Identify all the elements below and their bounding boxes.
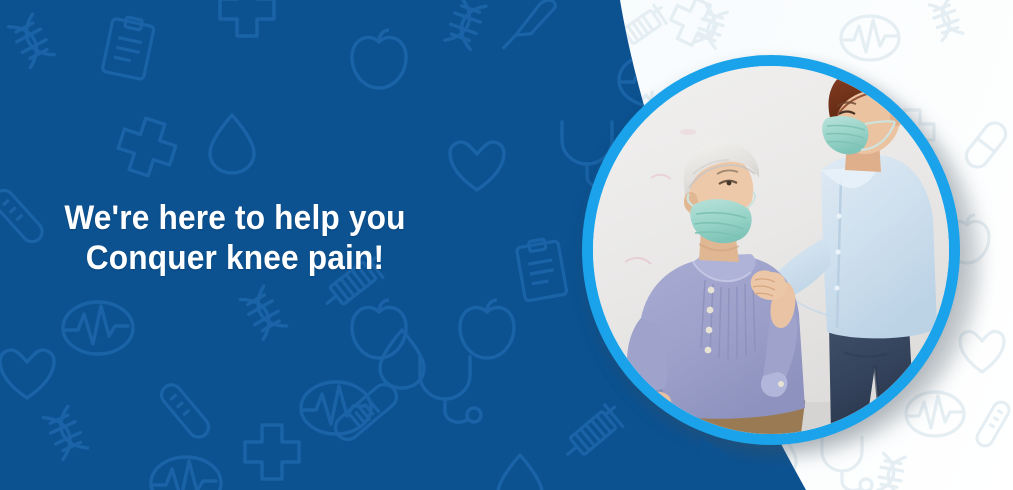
headline-line-2: Conquer knee pain! [44,238,425,278]
headline: We're here to help you Conquer knee pain… [44,198,425,278]
hero-banner: We're here to help you Conquer knee pain… [0,0,1013,490]
headline-line-1: We're here to help you [44,198,425,238]
circular-photo-frame [582,55,960,445]
caregiver-patient-photo [593,66,949,434]
